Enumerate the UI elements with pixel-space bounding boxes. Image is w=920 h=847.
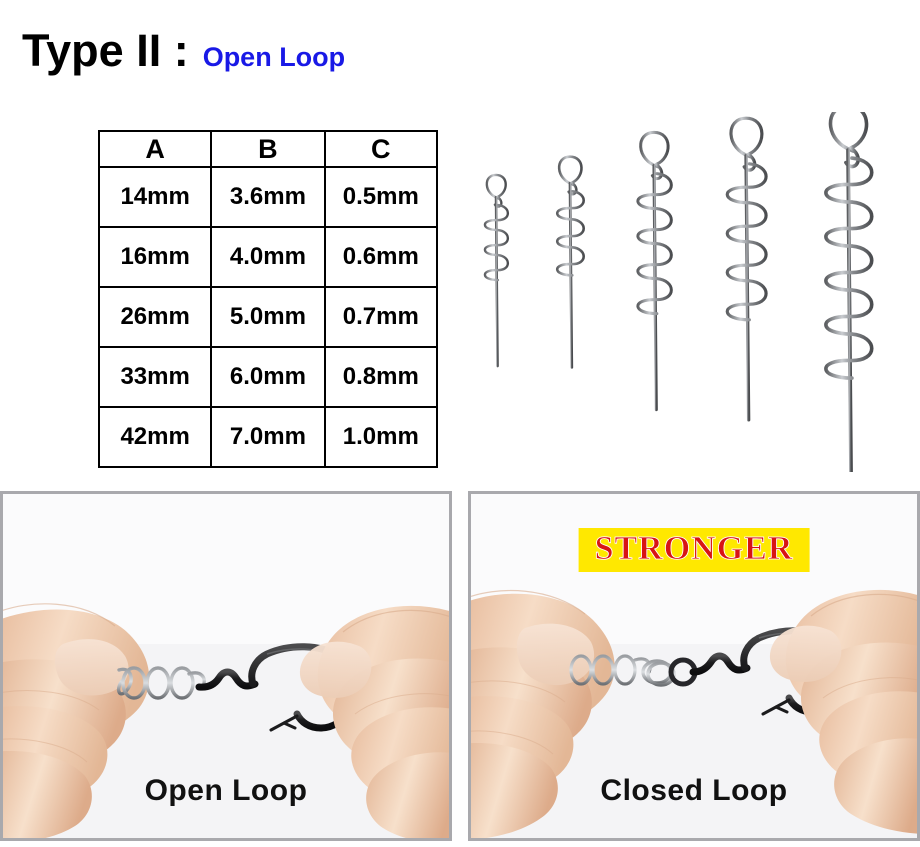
panel-caption-open-loop: Open Loop — [3, 774, 449, 808]
spring-14mm — [485, 175, 508, 366]
cell-b: 5.0mm — [211, 287, 324, 347]
table-header-row: A B C — [99, 131, 437, 167]
cell-b: 4.0mm — [211, 227, 324, 287]
cell-c: 0.5mm — [325, 167, 437, 227]
status-badge: STRONGER — [579, 528, 810, 572]
table-row: 16mm 4.0mm 0.6mm — [99, 227, 437, 287]
cell-c: 0.6mm — [325, 227, 437, 287]
cell-b: 7.0mm — [211, 407, 324, 467]
cell-a: 33mm — [99, 347, 211, 407]
table-header-a: A — [99, 131, 211, 167]
title-sub-text: Open Loop — [203, 44, 345, 71]
spring-33mm — [727, 118, 766, 420]
cell-b: 6.0mm — [211, 347, 324, 407]
panel-open-loop: Open Loop — [0, 491, 452, 841]
spring-42mm — [826, 112, 872, 472]
table-header-c: C — [325, 131, 437, 167]
table-header-b: B — [211, 131, 324, 167]
page-title: Type II : Open Loop — [22, 28, 345, 73]
table-row: 26mm 5.0mm 0.7mm — [99, 287, 437, 347]
table-row: 42mm 7.0mm 1.0mm — [99, 407, 437, 467]
panel-closed-loop: STRONGER Closed Loop — [468, 491, 920, 841]
panel-caption-closed-loop: Closed Loop — [471, 774, 917, 808]
spec-table: A B C 14mm 3.6mm 0.5mm 16mm 4.0mm 0.6mm … — [98, 130, 438, 468]
status-badge-label: STRONGER — [595, 532, 794, 566]
title-main-text: Type II : — [22, 28, 189, 73]
spring-lineup-photo — [458, 112, 920, 472]
cell-b: 3.6mm — [211, 167, 324, 227]
cell-a: 14mm — [99, 167, 211, 227]
demo-panels: Open Loop — [0, 491, 920, 843]
cell-a: 16mm — [99, 227, 211, 287]
table-row: 33mm 6.0mm 0.8mm — [99, 347, 437, 407]
product-infographic: Type II : Open Loop A B C 14mm 3.6mm 0.5… — [0, 0, 920, 847]
spring-16mm — [557, 157, 583, 368]
table-row: 14mm 3.6mm 0.5mm — [99, 167, 437, 227]
cell-c: 0.8mm — [325, 347, 437, 407]
spring-26mm — [638, 132, 671, 409]
cell-a: 26mm — [99, 287, 211, 347]
springs-illustration — [458, 112, 920, 472]
cell-c: 1.0mm — [325, 407, 437, 467]
cell-a: 42mm — [99, 407, 211, 467]
cell-c: 0.7mm — [325, 287, 437, 347]
